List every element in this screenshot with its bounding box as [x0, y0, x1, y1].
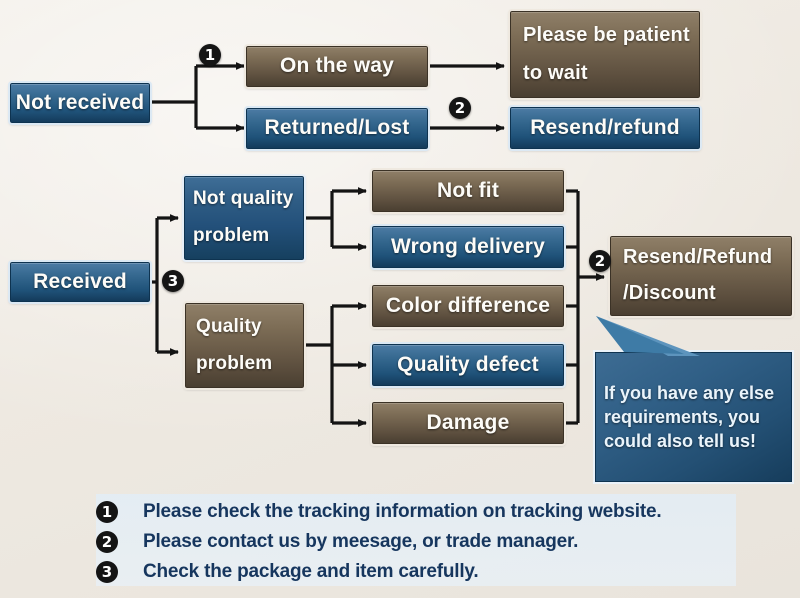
node-damage-label: Damage: [427, 412, 510, 435]
node-not-quality-problem-line2: problem: [193, 226, 269, 247]
legend-item-2: 2 Please contact us by meesage, or trade…: [96, 528, 578, 556]
legend-text-3: Check the package and item carefully.: [143, 561, 478, 583]
flowchart-canvas: Not received On the way Returned/Lost Pl…: [0, 0, 800, 598]
badge-step-two-top: 2: [449, 97, 471, 119]
callout-box[interactable]: If you have any else requirements, you c…: [595, 352, 792, 482]
node-not-quality-problem-line1: Not quality: [193, 189, 293, 210]
node-received-label: Received: [33, 271, 127, 294]
node-quality-problem[interactable]: Quality problem: [185, 303, 304, 388]
node-please-be-patient-line2: to wait: [523, 63, 588, 85]
node-resend-refund-label: Resend/refund: [530, 117, 680, 140]
node-quality-problem-line1: Quality: [196, 317, 262, 338]
node-quality-problem-line2: problem: [196, 354, 272, 375]
callout-line-2: requirements, you: [596, 405, 791, 429]
node-received[interactable]: Received: [10, 262, 150, 302]
node-quality-defect[interactable]: Quality defect: [372, 344, 564, 386]
node-resend-refund-discount-line2: /Discount: [623, 283, 716, 305]
node-please-be-patient[interactable]: Please be patient to wait: [510, 11, 700, 98]
callout-tail-icon: [588, 312, 708, 364]
node-please-be-patient-line1: Please be patient: [523, 25, 690, 47]
node-resend-refund-discount-line1: Resend/Refund: [623, 247, 772, 269]
legend-badge-1: 1: [96, 501, 118, 523]
badge-step-one-top: 1: [199, 44, 221, 66]
node-resend-refund-discount[interactable]: Resend/Refund /Discount: [610, 236, 792, 316]
legend-item-3: 3 Check the package and item carefully.: [96, 558, 478, 586]
badge-step-three-received: 3: [162, 270, 184, 292]
legend-panel: 1 Please check the tracking information …: [96, 494, 736, 586]
badge-step-two-outcome: 2: [589, 250, 611, 272]
node-on-the-way-label: On the way: [280, 55, 394, 78]
legend-text-1: Please check the tracking information on…: [143, 501, 661, 523]
node-not-received-label: Not received: [16, 92, 144, 115]
node-not-received[interactable]: Not received: [10, 83, 150, 123]
callout-line-1: If you have any else: [596, 381, 791, 405]
legend-text-2: Please contact us by meesage, or trade m…: [143, 531, 578, 553]
node-not-fit[interactable]: Not fit: [372, 170, 564, 212]
node-color-difference-label: Color difference: [386, 295, 550, 318]
node-on-the-way[interactable]: On the way: [246, 46, 428, 87]
node-wrong-delivery[interactable]: Wrong delivery: [372, 226, 564, 268]
node-not-fit-label: Not fit: [437, 180, 499, 203]
node-resend-refund[interactable]: Resend/refund: [510, 107, 700, 149]
legend-item-1: 1 Please check the tracking information …: [96, 498, 661, 526]
node-returned-lost-label: Returned/Lost: [265, 117, 410, 140]
node-quality-defect-label: Quality defect: [397, 354, 539, 377]
callout-line-3: could also tell us!: [596, 429, 791, 453]
legend-badge-2: 2: [96, 531, 118, 553]
node-damage[interactable]: Damage: [372, 402, 564, 444]
legend-badge-3: 3: [96, 561, 118, 583]
node-not-quality-problem[interactable]: Not quality problem: [184, 176, 304, 260]
node-returned-lost[interactable]: Returned/Lost: [246, 108, 428, 149]
node-wrong-delivery-label: Wrong delivery: [391, 236, 545, 259]
node-color-difference[interactable]: Color difference: [372, 285, 564, 327]
